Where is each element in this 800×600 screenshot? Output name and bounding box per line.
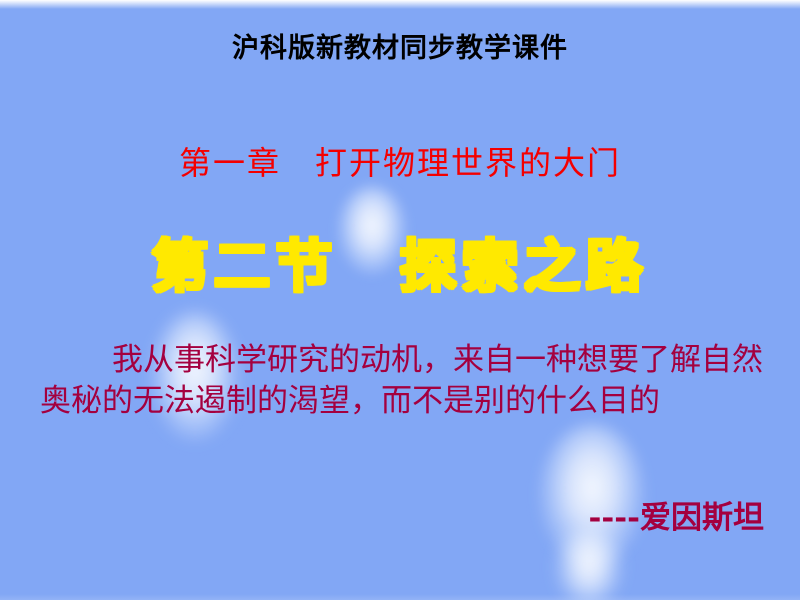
- einstein-quote-text: 我从事科学研究的动机，来自一种想要了解自然奥秘的无法遏制的渴望，而不是别的什么目…: [40, 340, 764, 422]
- chapter-heading: 第一章 打开物理世界的大门: [0, 138, 800, 184]
- course-header-title: 沪科版新教材同步教学课件: [0, 26, 800, 65]
- glow-ellipse-bottom-decoration: [556, 528, 622, 600]
- top-edge-sheen: [0, 0, 800, 9]
- quote-attribution: ----爱因斯坦: [0, 492, 764, 537]
- presentation-slide: 沪科版新教材同步教学课件 第一章 打开物理世界的大门 第二节 探索之路 第二节 …: [0, 0, 800, 600]
- section-heading-outline: 第二节 探索之路: [0, 222, 800, 303]
- bottom-edge-sheen: [0, 594, 800, 600]
